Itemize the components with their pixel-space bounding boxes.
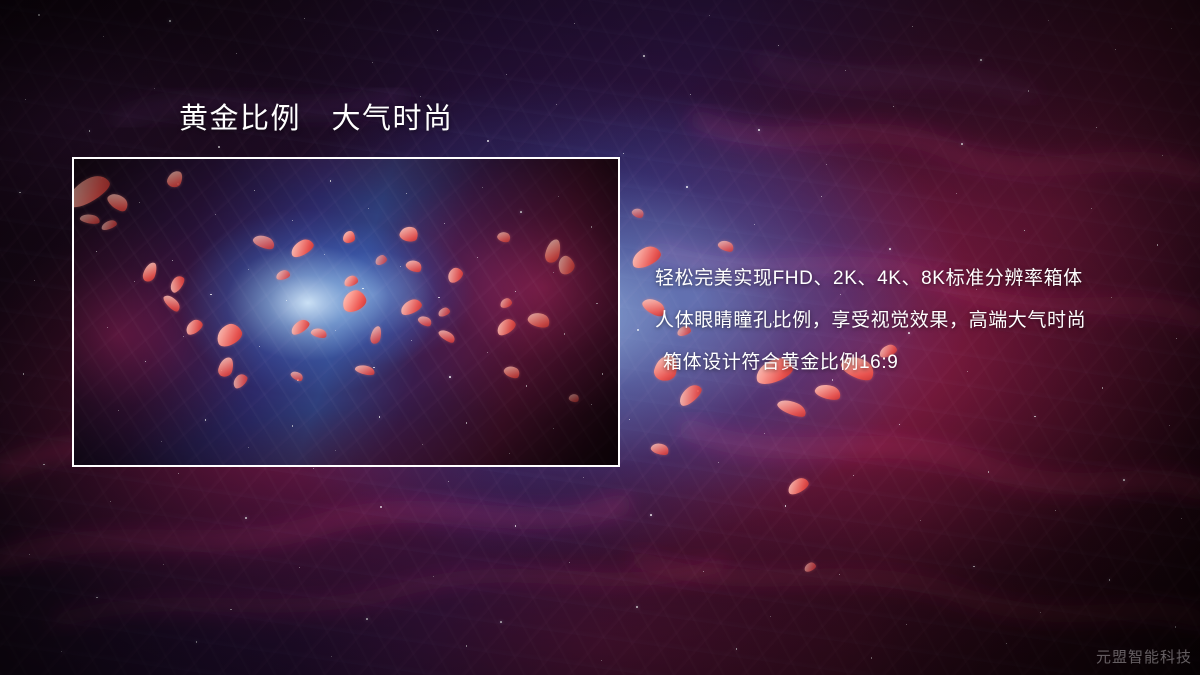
feature-line-1: 轻松完美实现FHD、2K、4K、8K标准分辨率箱体 [655,258,1175,300]
led-cabinet-preview-frame [72,157,620,467]
nebula-filament [60,565,720,620]
nebula-filament [640,560,1200,620]
page-title: 黄金比例 大气时尚 [179,101,454,137]
feature-line-3: 箱体设计符合黄金比例16:9 [655,342,1175,384]
nebula-filament [690,430,1200,490]
preview-vignette [74,159,618,465]
nebula-filament [700,120,1200,175]
company-watermark: 元盟智能科技 [1096,646,1192,667]
nebula-filament [0,505,620,560]
feature-description: 轻松完美实现FHD、2K、4K、8K标准分辨率箱体 人体眼睛瞳孔比例，享受视觉效… [655,258,1175,384]
feature-line-2: 人体眼睛瞳孔比例，享受视觉效果，高端大气时尚 [655,300,1175,342]
nebula-filament [760,60,1030,95]
presentation-slide: 黄金比例 大气时尚 轻松完美实现FHD、2K、4K、8K标准分辨率箱体 人体眼睛… [0,0,1200,675]
